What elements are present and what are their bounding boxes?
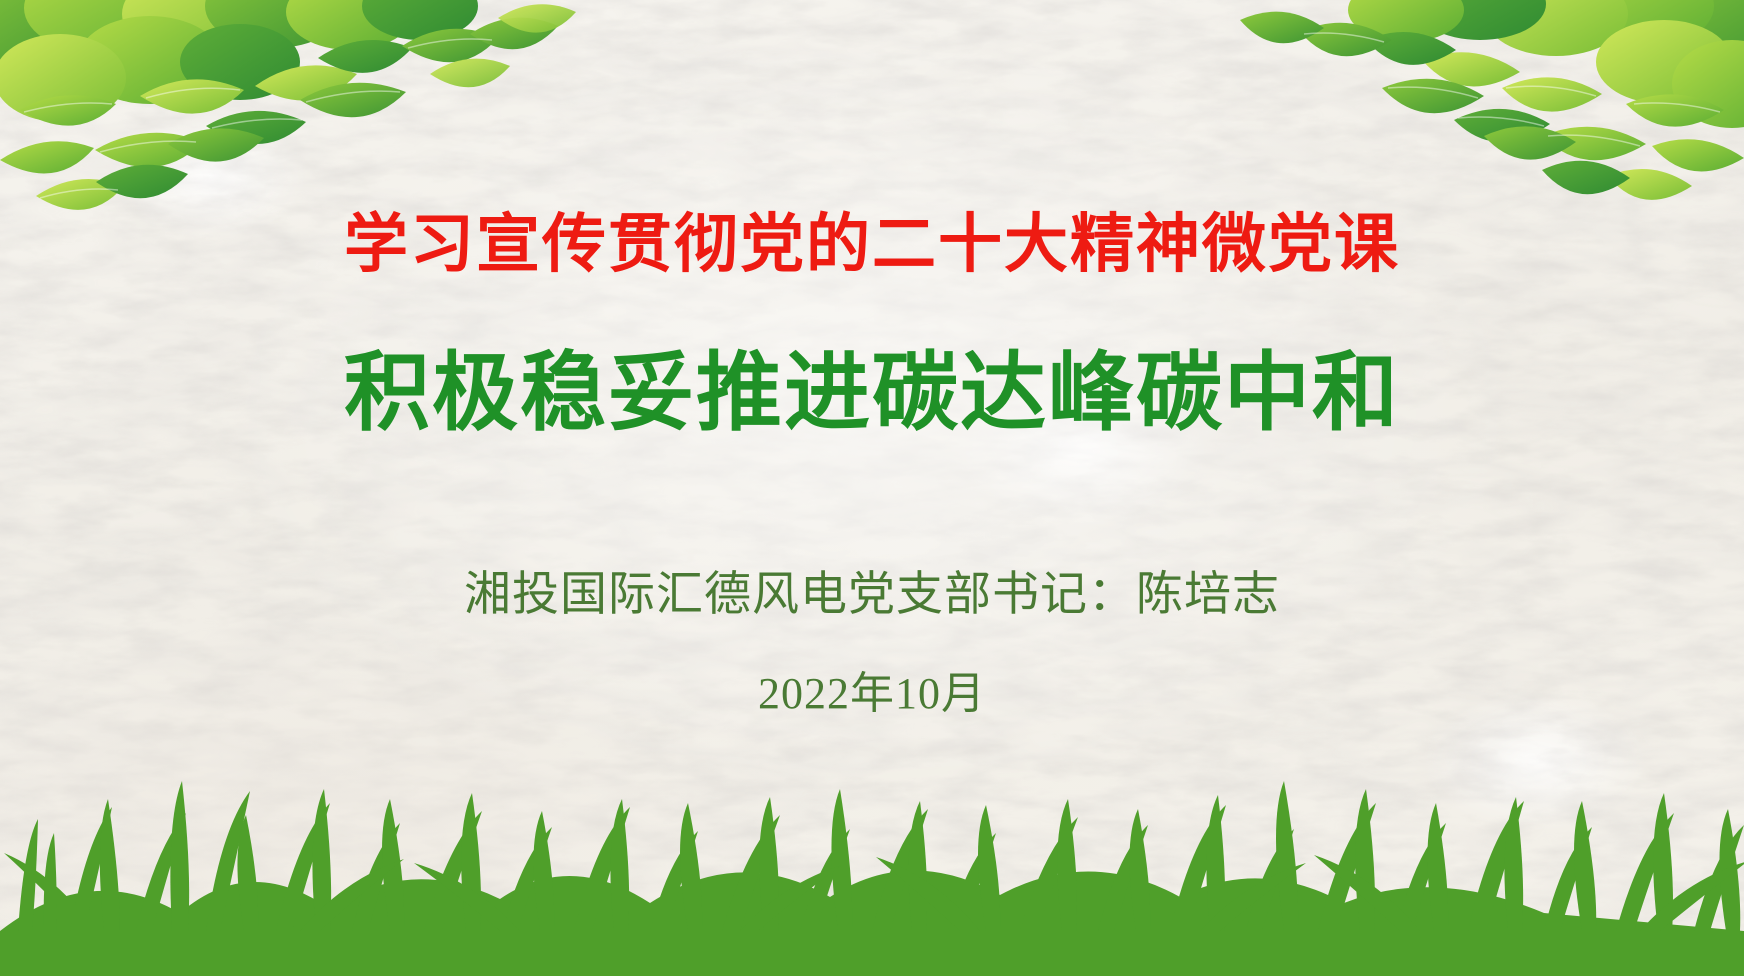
slide-headline: 积极稳妥推进碳达峰碳中和: [0, 350, 1744, 436]
ground-bar: [0, 938, 1744, 976]
slide-presenter: 湘投国际汇德风电党支部书记：陈培志: [0, 572, 1744, 619]
paper-fiber-texture: [0, 0, 1744, 976]
presentation-slide: 学习宣传贯彻党的二十大精神微党课 积极稳妥推进碳达峰碳中和 湘投国际汇德风电党支…: [0, 0, 1744, 976]
slide-date: 2022年10月: [0, 672, 1744, 716]
slide-kicker: 学习宣传贯彻党的二十大精神微党课: [0, 212, 1744, 276]
